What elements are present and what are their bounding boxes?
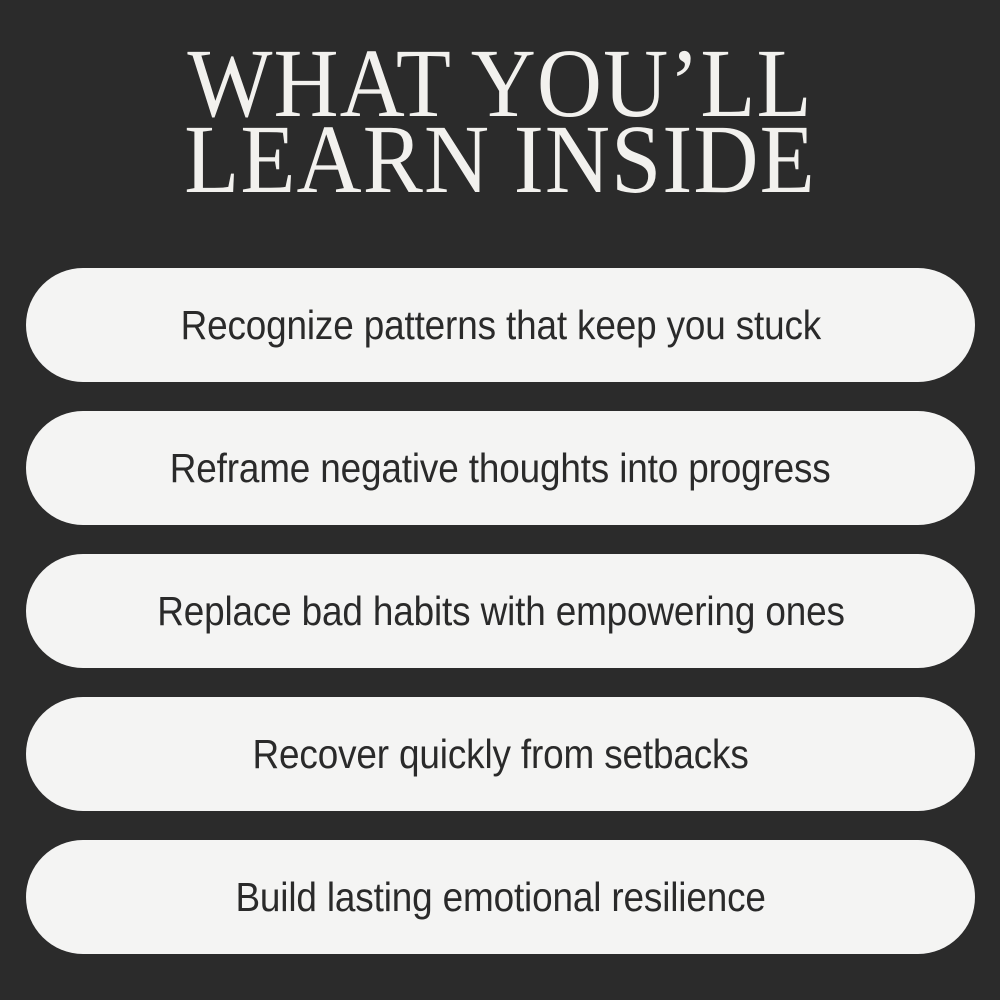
- list-item-label: Recover quickly from setbacks: [252, 734, 748, 775]
- list-item[interactable]: Recover quickly from setbacks: [26, 697, 975, 811]
- list-item-label: Replace bad habits with empowering ones: [157, 591, 845, 632]
- list-item-label: Reframe negative thoughts into progress: [170, 448, 831, 489]
- list-item[interactable]: Recognize patterns that keep you stuck: [26, 268, 975, 382]
- page-title: WHAT YOU’LL LEARN INSIDE: [0, 46, 1000, 198]
- list-item[interactable]: Build lasting emotional resilience: [26, 840, 975, 954]
- poster-canvas: WHAT YOU’LL LEARN INSIDE Recognize patte…: [0, 0, 1000, 1000]
- list-item[interactable]: Replace bad habits with empowering ones: [26, 554, 975, 668]
- list-item-label: Build lasting emotional resilience: [235, 877, 765, 918]
- page-title-line-2: LEARN INSIDE: [40, 122, 960, 198]
- list-item-label: Recognize patterns that keep you stuck: [180, 305, 821, 346]
- benefits-list: Recognize patterns that keep you stuck R…: [26, 268, 975, 954]
- list-item[interactable]: Reframe negative thoughts into progress: [26, 411, 975, 525]
